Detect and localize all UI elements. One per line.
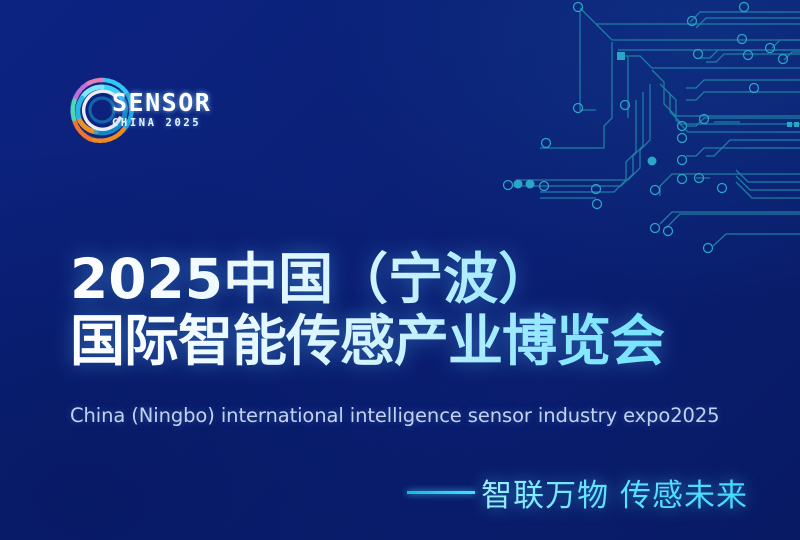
- pcb-circuit-trace-pattern: [500, 0, 800, 260]
- logo-wordmark: SENSOR CHINA 2025: [112, 90, 240, 130]
- logo-subbrand-text: CHINA 2025: [112, 117, 240, 130]
- tagline-block: 智联万物 传感未来: [407, 470, 748, 515]
- tagline-dash-rule: [407, 491, 475, 494]
- tagline-text: 智联万物 传感未来: [481, 470, 748, 515]
- logo-brand-text: SENSOR: [112, 90, 240, 116]
- headline-english-subtitle: China (Ningbo) international intelligenc…: [70, 404, 790, 427]
- headline-block: 2025中国（宁波） 国际智能传感产业博览会: [70, 248, 770, 372]
- event-logo: SENSOR CHINA 2025: [68, 76, 240, 148]
- headline-line-1: 2025中国（宁波）: [70, 248, 770, 310]
- poster-canvas: SENSOR CHINA 2025 2025中国（宁波） 国际智能传感产业博览会…: [0, 0, 800, 540]
- headline-line-2: 国际智能传感产业博览会: [70, 310, 770, 372]
